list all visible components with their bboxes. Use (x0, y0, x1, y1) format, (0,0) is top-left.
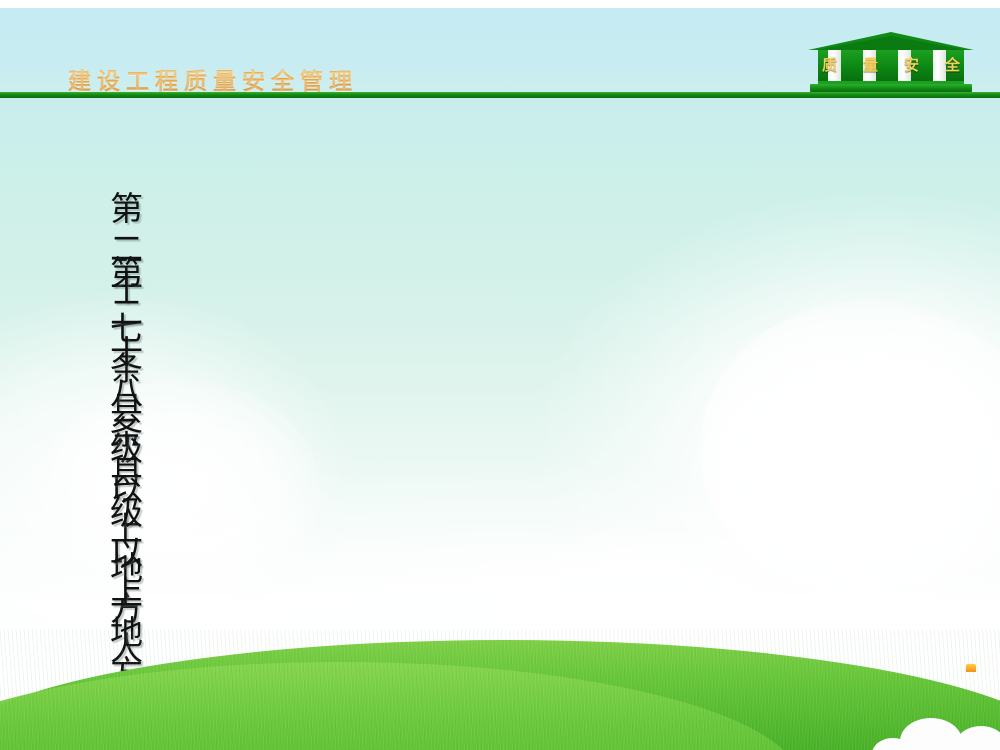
page-title: 建设工程质量安全管理 (68, 62, 358, 96)
paragraph-article-28: 第二十八条 县级以上地方人民政府住房城乡建设主管部门应当将单位和个人的处罚信息纳… (110, 254, 162, 294)
presentation-slide: 建设工程质量安全管理 质 量 安 全 第二十七条 县级以上地方人民政府住房城乡建… (0, 0, 1000, 750)
paragraph-article-27: 第二十七条 县级以上地方人民政府住房城乡建设主管部门或者所属施工安全监督机构，在… (110, 190, 172, 236)
temple-base-icon (810, 84, 972, 92)
temple-roof-inner-icon (816, 36, 966, 50)
grass-decoration (0, 630, 1000, 750)
quality-safety-temple-logo: 质 量 安 全 (808, 32, 974, 94)
logo-char-quan: 全 (945, 58, 960, 73)
logo-char-zhi: 质 (822, 58, 837, 73)
slide-body-text: 第二十七条 县级以上地方人民政府住房城乡建设主管部门或者所属施工安全监督机构，在… (110, 190, 892, 300)
logo-char-an: 安 (904, 58, 919, 73)
cloud-shape-left (40, 380, 320, 600)
logo-char-liang: 量 (863, 58, 878, 73)
logo-text: 质 量 安 全 (822, 58, 960, 73)
horizon-speck-icon (966, 664, 976, 672)
